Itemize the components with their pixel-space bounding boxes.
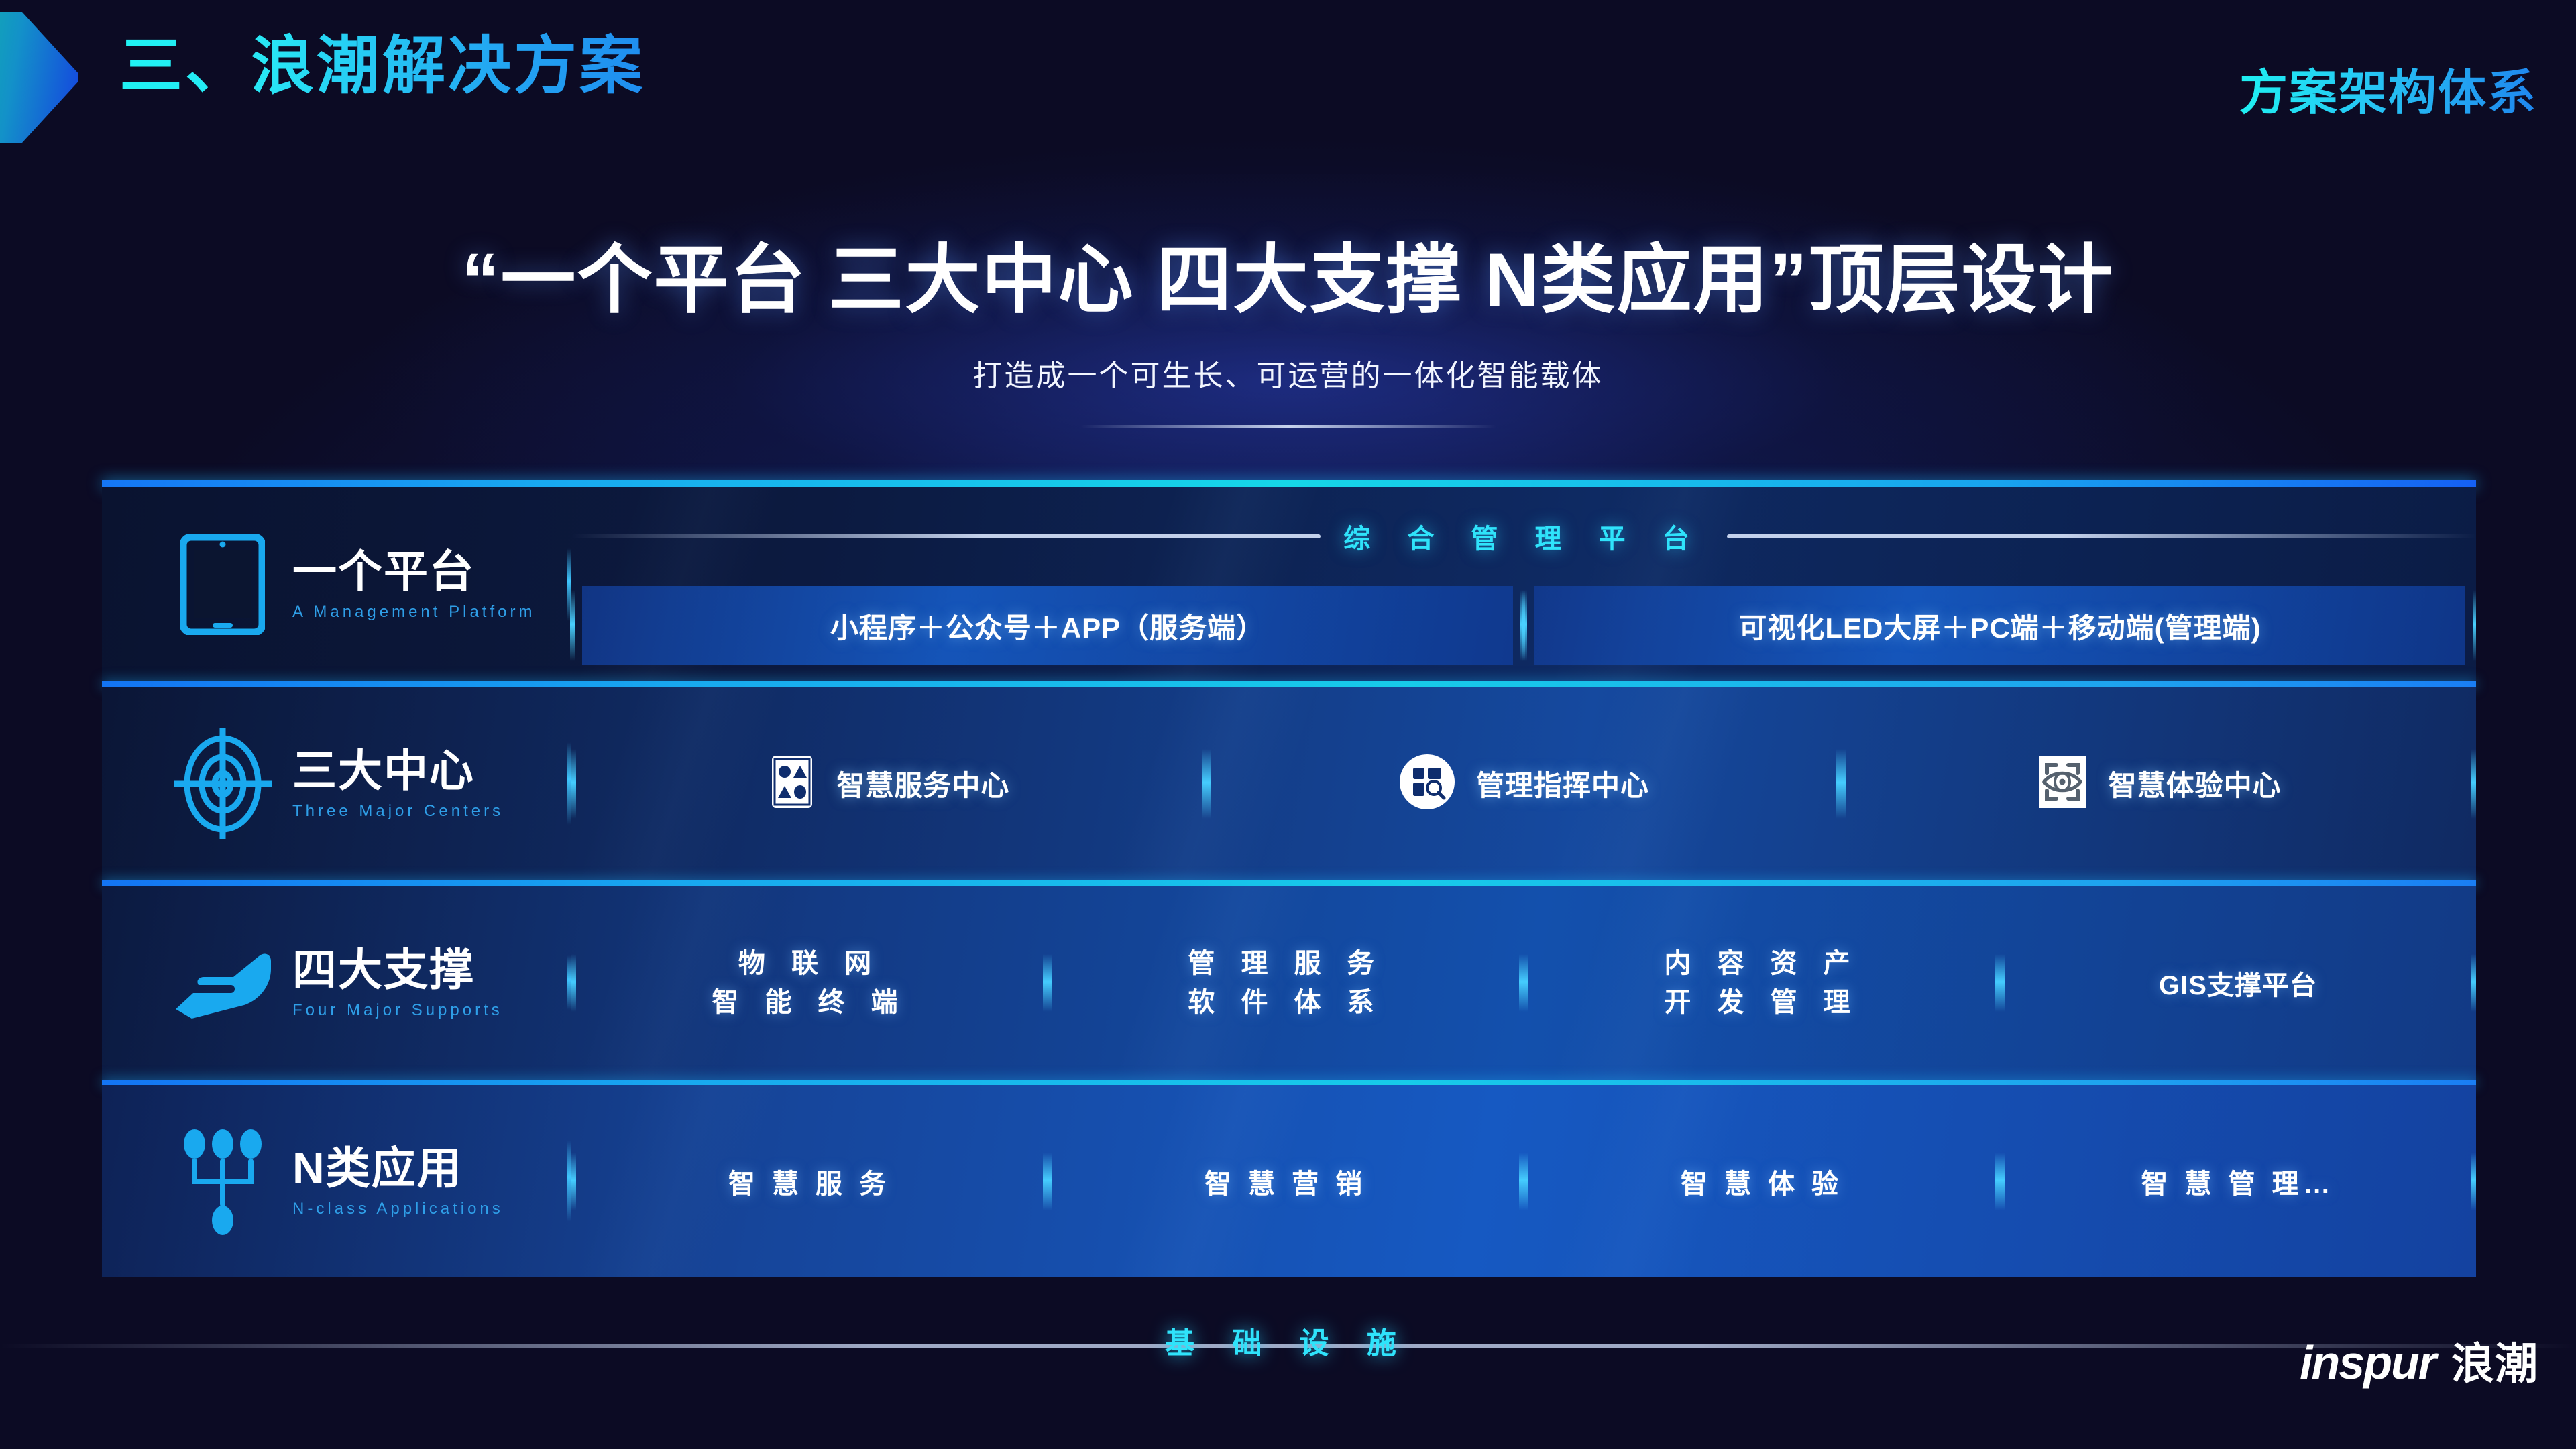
cell-divider: [2000, 954, 2005, 1012]
banner-line-right: [1727, 534, 2476, 538]
support-line-1: 内 容 资 产: [1664, 944, 1859, 983]
row-label-platform: 一个平台 A Management Platform: [102, 534, 571, 635]
support-item[interactable]: 管 理 服 务 软 件 体 系: [1052, 886, 1519, 1080]
center-item-label: 管理指挥中心: [1476, 763, 1649, 804]
row-title-en: Four Major Supports: [292, 1001, 503, 1020]
cell-divider: [2471, 1153, 2476, 1210]
page-title: 三、浪潮解决方案: [119, 30, 645, 102]
cell-divider: [1048, 1153, 1052, 1210]
application-item[interactable]: 智 慧 服 务: [576, 1085, 1043, 1277]
inspur-logo: inspur 浪潮: [2300, 1330, 2538, 1391]
row-label-edge: [567, 1141, 571, 1222]
row-label-supports: 四大支撑 Four Major Supports: [102, 945, 571, 1021]
centers-content: 智慧服务中心 管理指挥中心: [571, 687, 2476, 880]
hero-subtitle: 打造成一个可生长、可运营的一体化智能载体: [0, 351, 2576, 394]
cell-divider: [2471, 954, 2476, 1012]
applications-content: 智 慧 服 务 智 慧 营 销 智 慧 体 验 智 慧 管 理…: [571, 1085, 2476, 1277]
row-title-en: N-class Applications: [292, 1200, 504, 1218]
row-title-cn: 一个平台: [292, 547, 535, 597]
row-label-edge: [567, 742, 571, 824]
hero-block: “一个平台 三大中心 四大支撑 N类应用”顶层设计 打造成一个可生长、可运营的一…: [0, 236, 2576, 428]
row-label-texts: N类应用 N-class Applications: [292, 1144, 504, 1219]
support-line-2: 智 能 终 端: [712, 983, 907, 1022]
panel-top-bar: [102, 480, 2476, 487]
crosshair-target-icon: [169, 727, 276, 841]
support-line-2: 开 发 管 理: [1664, 983, 1859, 1022]
row-title-cn: 四大支撑: [292, 945, 503, 995]
row-title-cn: N类应用: [292, 1144, 504, 1194]
support-item[interactable]: GIS支撑平台: [2005, 886, 2471, 1080]
row-label-texts: 三大中心 Three Major Centers: [292, 746, 504, 821]
cell-divider: [1207, 749, 1211, 819]
cell-divider: [1519, 954, 1524, 1012]
application-item[interactable]: 智 慧 体 验: [1528, 1085, 1995, 1277]
row-label-applications: N类应用 N-class Applications: [102, 1125, 571, 1238]
panel-row-applications: N类应用 N-class Applications 智 慧 服 务 智 慧 营 …: [102, 1085, 2476, 1277]
logo-en: inspur: [2300, 1336, 2435, 1389]
footer: 基 础 设 施 inspur 浪潮: [0, 1324, 2576, 1405]
cell-divider: [1836, 749, 1841, 819]
box-edge-right: [2473, 590, 2476, 661]
center-item-label: 智慧体验中心: [2109, 763, 2282, 804]
cell-divider: [1202, 749, 1207, 819]
application-label: 智 慧 管 理…: [2141, 1162, 2335, 1201]
logo-cn: 浪潮: [2451, 1330, 2538, 1391]
application-item[interactable]: 智 慧 营 销: [1052, 1085, 1519, 1277]
center-item[interactable]: 智慧服务中心: [576, 753, 1202, 814]
cell-divider: [571, 749, 576, 819]
network-node-icon: [169, 1125, 276, 1238]
cell-divider: [1043, 954, 1048, 1012]
platform-box[interactable]: 小程序＋公众号＋APP（服务端）: [582, 586, 1513, 665]
row-title-cn: 三大中心: [292, 746, 504, 796]
row-label-centers: 三大中心 Three Major Centers: [102, 727, 571, 841]
support-line-1: 管 理 服 务: [1188, 944, 1383, 983]
cell-divider: [1519, 1153, 1524, 1210]
footer-caption: 基 础 设 施: [0, 1319, 2576, 1362]
cell-divider: [1841, 749, 1846, 819]
banner-caption: 综 合 管 理 平 台: [1343, 517, 1704, 556]
platform-banner: 综 合 管 理 平 台: [571, 517, 2476, 556]
banner-line-left: [571, 534, 1321, 538]
cell-divider: [1995, 954, 2000, 1012]
row-title-en: Three Major Centers: [292, 802, 504, 821]
cell-divider: [2471, 749, 2476, 819]
platform-box-label: 可视化LED大屏＋PC端＋移动端(管理端): [1738, 605, 2261, 646]
panel-row-supports: 四大支撑 Four Major Supports 物 联 网 智 能 终 端: [102, 886, 2476, 1080]
application-label: 智 慧 体 验: [1681, 1162, 1843, 1201]
supports-content: 物 联 网 智 能 终 端 管 理 服 务 软 件 体 系 内 容 资: [571, 886, 2476, 1080]
center-item-label: 智慧服务中心: [836, 763, 1009, 804]
row-separator: [102, 880, 2476, 886]
cell-divider: [1043, 1153, 1048, 1210]
cell-divider: [1524, 1153, 1528, 1210]
box-edge-left: [1522, 590, 1527, 661]
hand-support-icon: [169, 946, 276, 1020]
architecture-panel: 一个平台 A Management Platform 综 合 管 理 平 台 小…: [102, 480, 2476, 1285]
row-label-edge: [567, 955, 571, 1010]
support-item[interactable]: 内 容 资 产 开 发 管 理: [1528, 886, 1995, 1080]
support-item[interactable]: 物 联 网 智 能 终 端: [576, 886, 1043, 1080]
platform-boxes: 小程序＋公众号＋APP（服务端） 可视化LED大屏＋PC端＋移动端(管理端): [571, 585, 2476, 666]
row-label-texts: 一个平台 A Management Platform: [292, 547, 535, 622]
cell-divider: [571, 1153, 576, 1210]
panel-row-centers: 三大中心 Three Major Centers: [102, 687, 2476, 880]
center-item[interactable]: 智慧体验中心: [1846, 753, 2471, 814]
section-badge: 方案架构体系: [2239, 67, 2537, 120]
service-panel-icon: [768, 753, 816, 814]
panel-row-platform: 一个平台 A Management Platform 综 合 管 理 平 台 小…: [102, 487, 2476, 681]
row-separator: [102, 1080, 2476, 1085]
center-item[interactable]: 管理指挥中心: [1211, 753, 1837, 814]
tablet-icon: [169, 534, 276, 635]
support-line-1: GIS支撑平台: [2159, 964, 2317, 1002]
application-label: 智 慧 营 销: [1205, 1162, 1367, 1201]
support-line-2: 软 件 体 系: [1188, 983, 1383, 1022]
hero-title: “一个平台 三大中心 四大支撑 N类应用”顶层设计: [0, 236, 2576, 325]
platform-box-label: 小程序＋公众号＋APP（服务端）: [830, 605, 1265, 646]
cell-divider: [1048, 954, 1052, 1012]
platform-box[interactable]: 可视化LED大屏＋PC端＋移动端(管理端): [1534, 586, 2465, 665]
cell-divider: [1524, 954, 1528, 1012]
dashboard-search-icon: [1398, 753, 1456, 814]
support-line-1: 物 联 网: [712, 944, 907, 983]
row-separator: [102, 681, 2476, 687]
cell-divider: [1995, 1153, 2000, 1210]
cell-divider: [2000, 1153, 2005, 1210]
application-item[interactable]: 智 慧 管 理…: [2005, 1085, 2471, 1277]
hero-divider: [1080, 425, 1496, 428]
eye-scan-icon: [2036, 753, 2088, 814]
row-title-en: A Management Platform: [292, 603, 535, 622]
slide-root: 三、浪潮解决方案 方案架构体系 “一个平台 三大中心 四大支撑 N类应用”顶层设…: [0, 0, 2576, 1449]
row-label-texts: 四大支撑 Four Major Supports: [292, 945, 503, 1021]
cell-divider: [571, 954, 576, 1012]
box-edge-left: [570, 590, 575, 661]
application-label: 智 慧 服 务: [728, 1162, 891, 1201]
